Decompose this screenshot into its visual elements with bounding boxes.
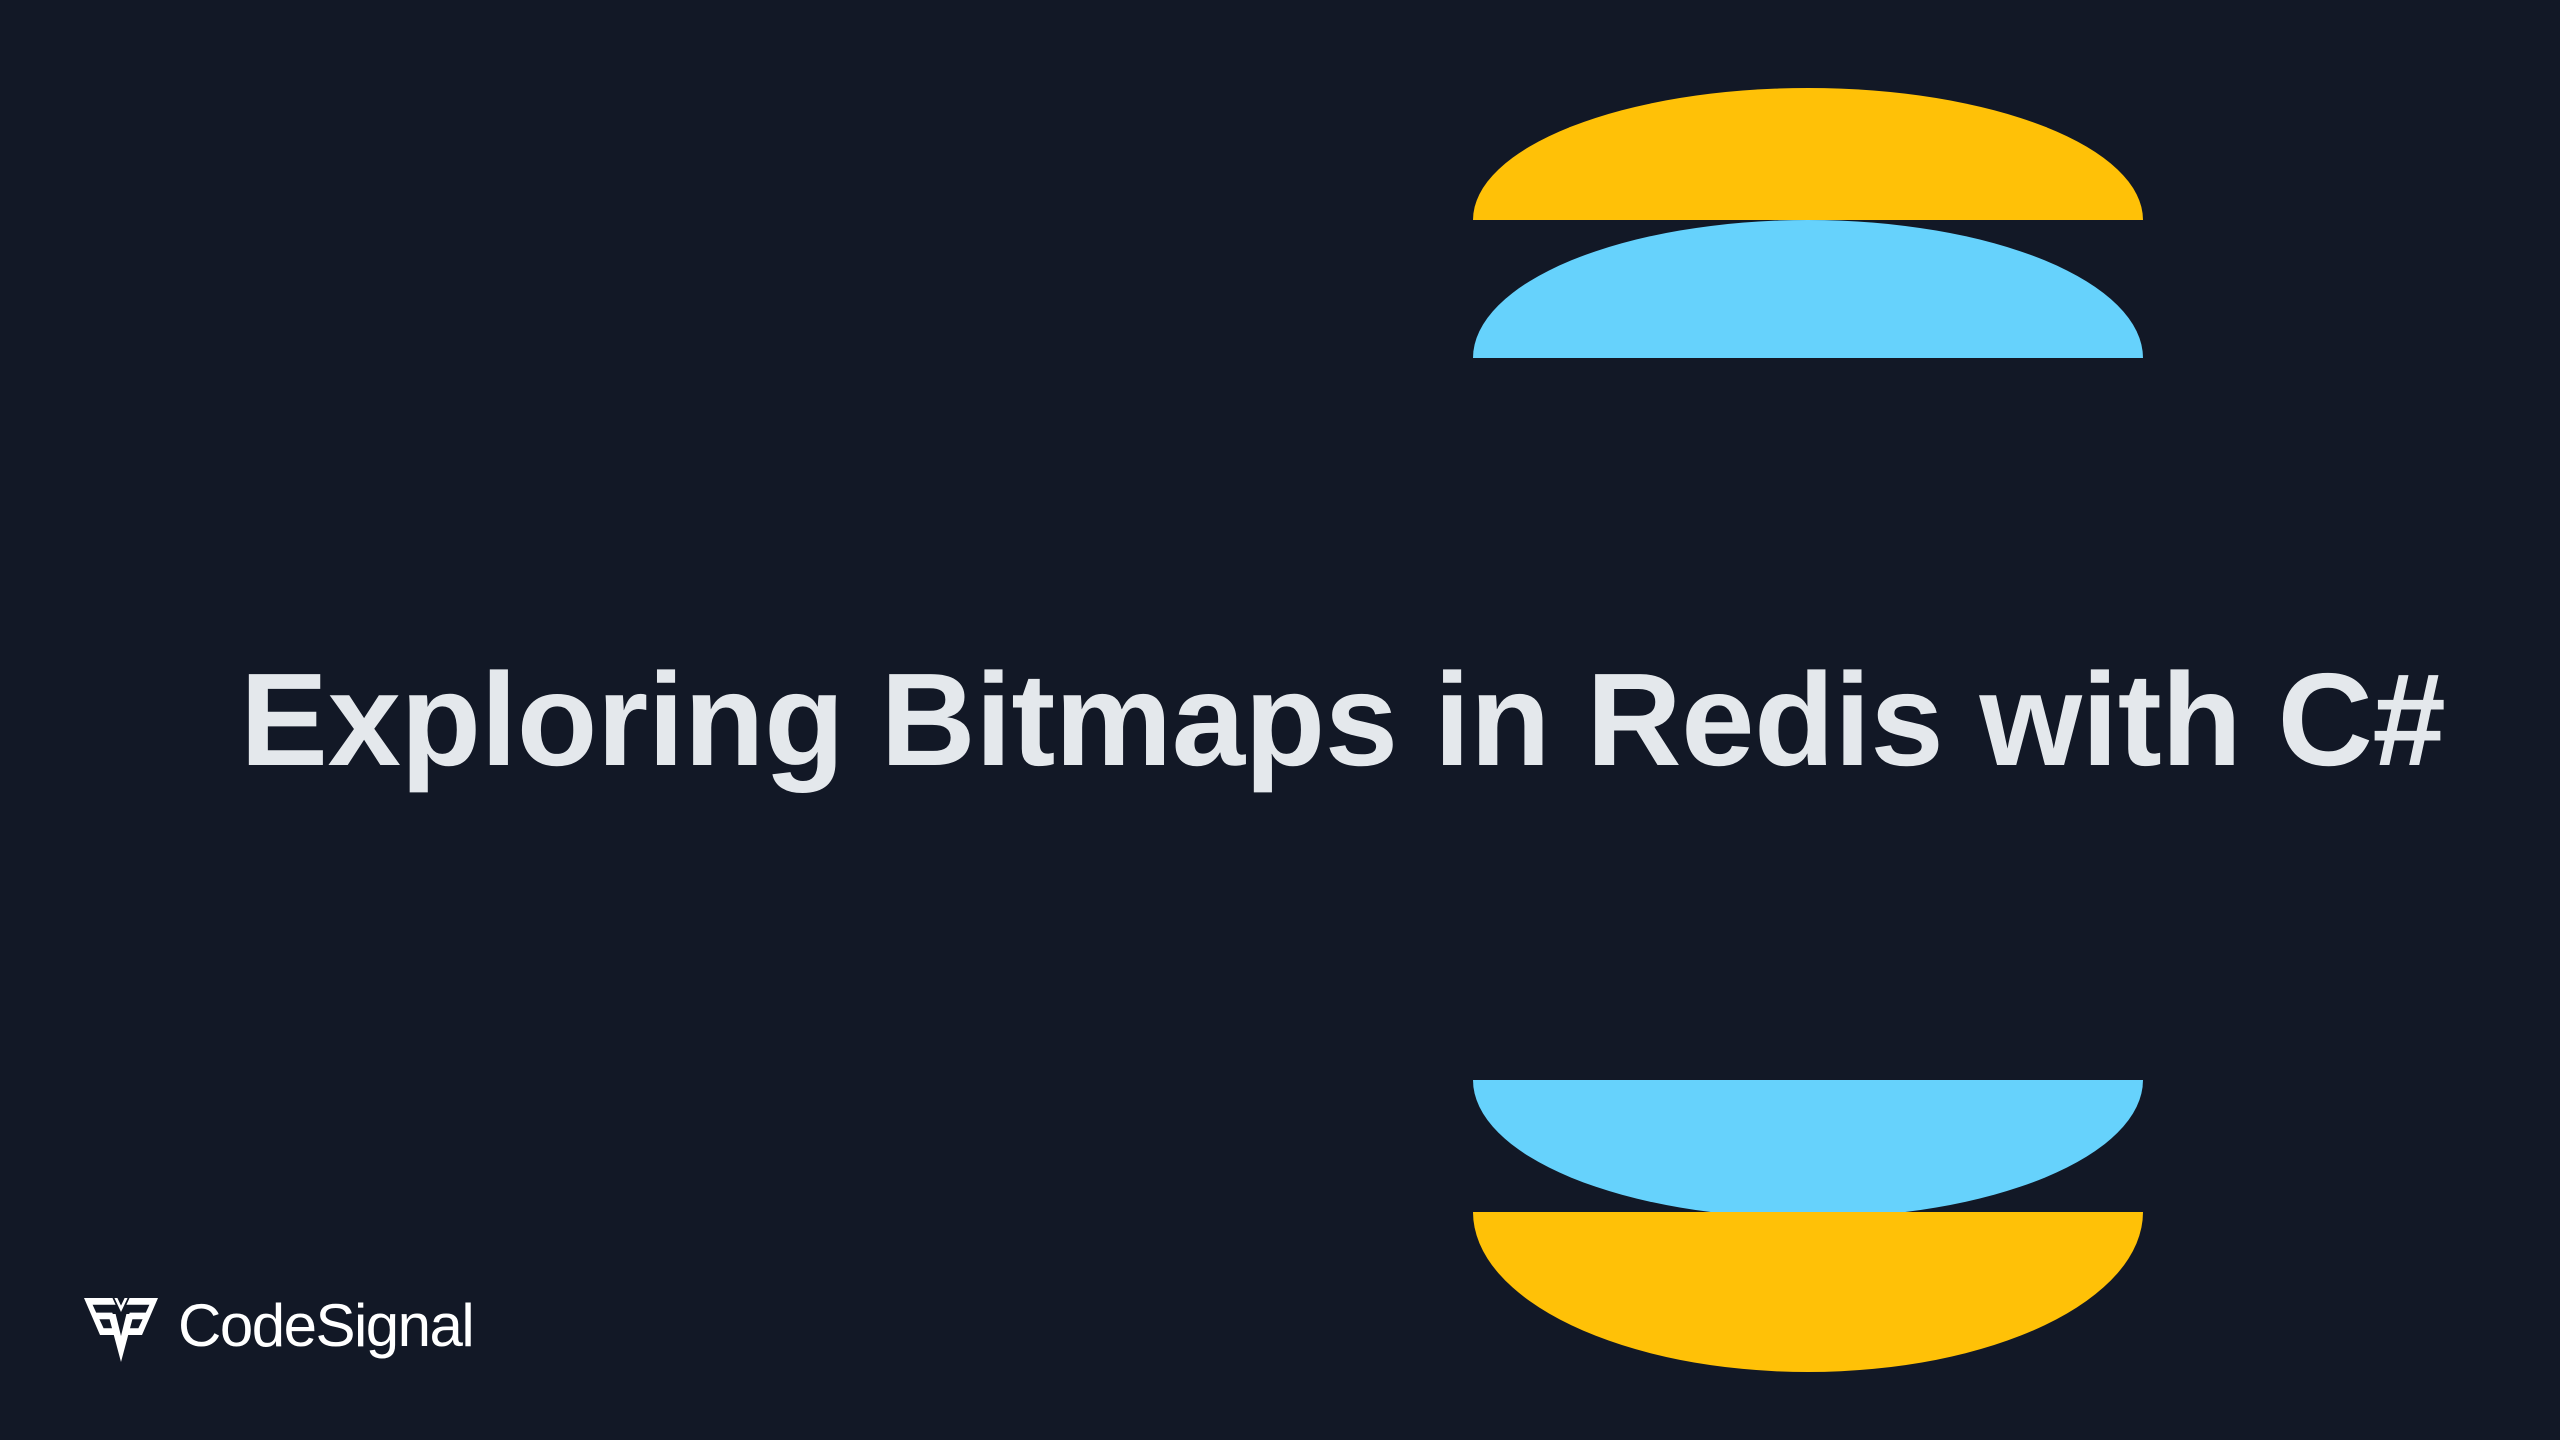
top-arc-svg	[1473, 88, 2143, 360]
yellow-lower-arc	[1473, 1212, 2143, 1372]
codesignal-wing-mark-icon	[84, 1292, 158, 1364]
top-arc-decoration	[1473, 88, 2143, 360]
page-title: Exploring Bitmaps in Redis with C#	[240, 647, 2445, 792]
blue-lower-arc	[1473, 1080, 2143, 1218]
title-slide: Exploring Bitmaps in Redis with C# CodeS…	[0, 0, 2560, 1440]
blue-upper-arc	[1473, 220, 2143, 358]
codesignal-logo: CodeSignal	[84, 1288, 473, 1368]
bottom-arc-svg	[1473, 1080, 2143, 1440]
bottom-arc-decoration	[1473, 1080, 2143, 1440]
yellow-upper-arc	[1473, 88, 2143, 220]
codesignal-wordmark: CodeSignal	[178, 1296, 473, 1360]
title-container: Exploring Bitmaps in Redis with C#	[240, 620, 2360, 820]
